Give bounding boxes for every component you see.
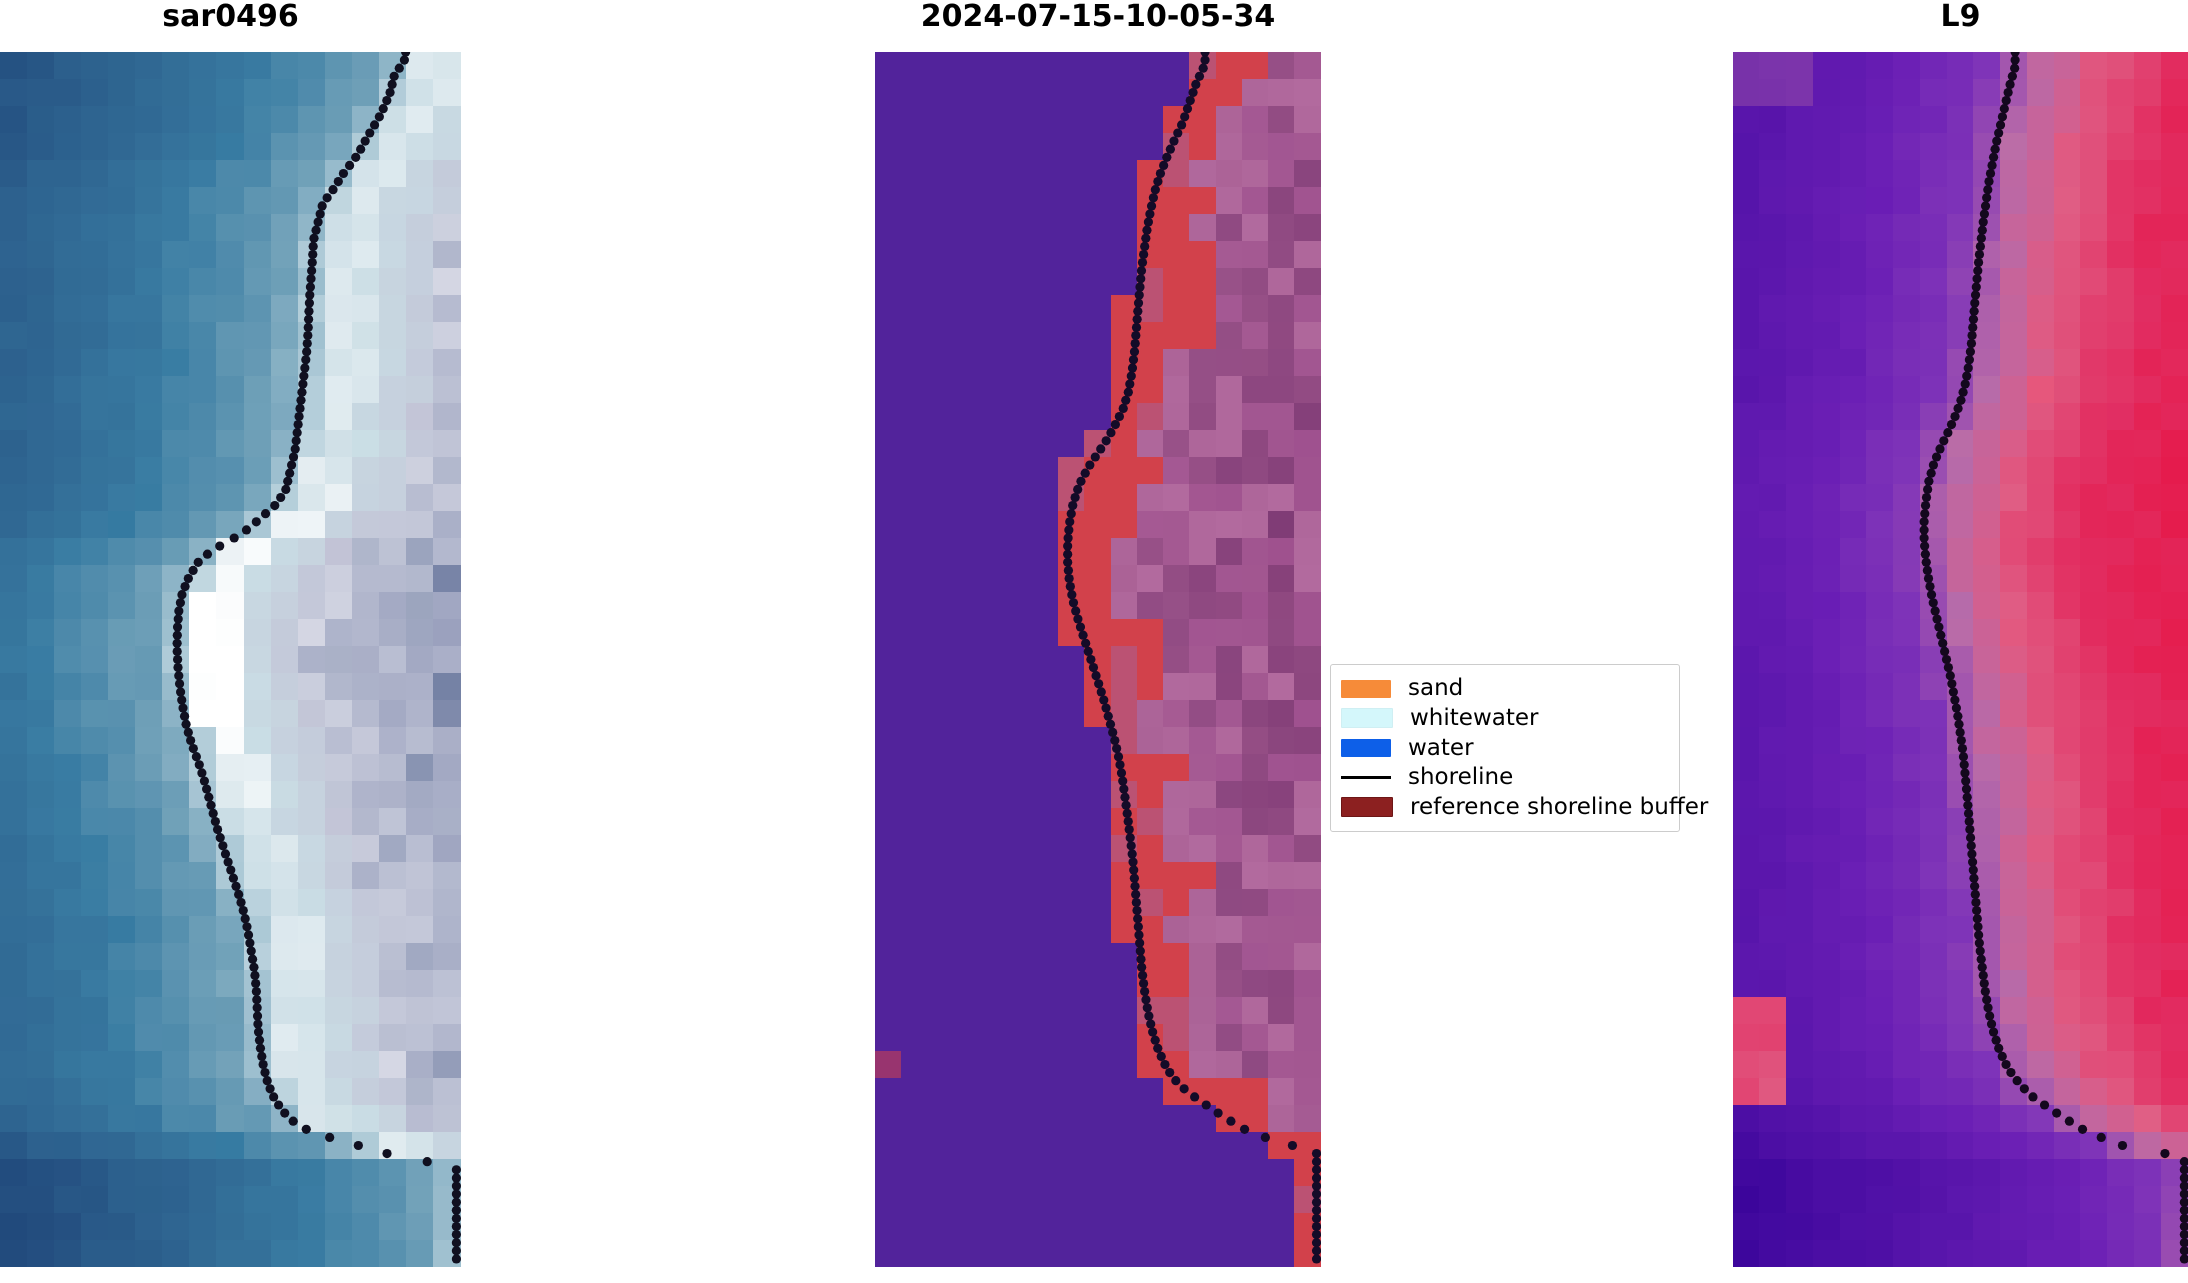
legend-item-shoreline[interactable]: shoreline xyxy=(1341,763,1668,793)
legend-item-water[interactable]: water xyxy=(1341,733,1668,763)
panel-classified[interactable]: 2024-07-15-10-05-34 xyxy=(875,0,1321,1267)
panel-title-l9: L9 xyxy=(1733,0,2188,34)
legend-swatch-water-icon xyxy=(1341,739,1391,757)
legend-label-water: water xyxy=(1408,737,1474,760)
legend-swatch-whitewater-icon xyxy=(1341,708,1393,728)
panel-l9[interactable]: L9 xyxy=(1733,0,2188,1267)
legend-swatch-sand-icon xyxy=(1341,680,1391,698)
panel-sar0496[interactable]: sar0496 xyxy=(0,0,461,1267)
legend-item-reference-shoreline-buffer[interactable]: reference shoreline buffer xyxy=(1341,792,1668,822)
legend-label-whitewater: whitewater xyxy=(1410,707,1538,730)
image-l9[interactable] xyxy=(1733,52,2188,1267)
figure-canvas: sar0496 2024-07-15-10-05-34 L9 sandwhite… xyxy=(0,0,2188,1283)
legend-item-sand[interactable]: sand xyxy=(1341,674,1668,704)
legend-label-shoreline: shoreline xyxy=(1408,766,1513,789)
panel-title-classified: 2024-07-15-10-05-34 xyxy=(875,0,1321,34)
legend-swatch-shoreline-icon xyxy=(1341,776,1391,779)
legend-label-reference-shoreline-buffer: reference shoreline buffer xyxy=(1410,796,1708,819)
legend-label-sand: sand xyxy=(1408,677,1463,700)
panel-title-sar0496: sar0496 xyxy=(0,0,461,34)
legend-item-whitewater[interactable]: whitewater xyxy=(1341,704,1668,734)
legend-swatch-reference-shoreline-buffer-icon xyxy=(1341,797,1393,817)
image-sar0496[interactable] xyxy=(0,52,461,1267)
image-classified[interactable] xyxy=(875,52,1321,1267)
legend[interactable]: sandwhitewaterwatershorelinereference sh… xyxy=(1330,664,1680,832)
